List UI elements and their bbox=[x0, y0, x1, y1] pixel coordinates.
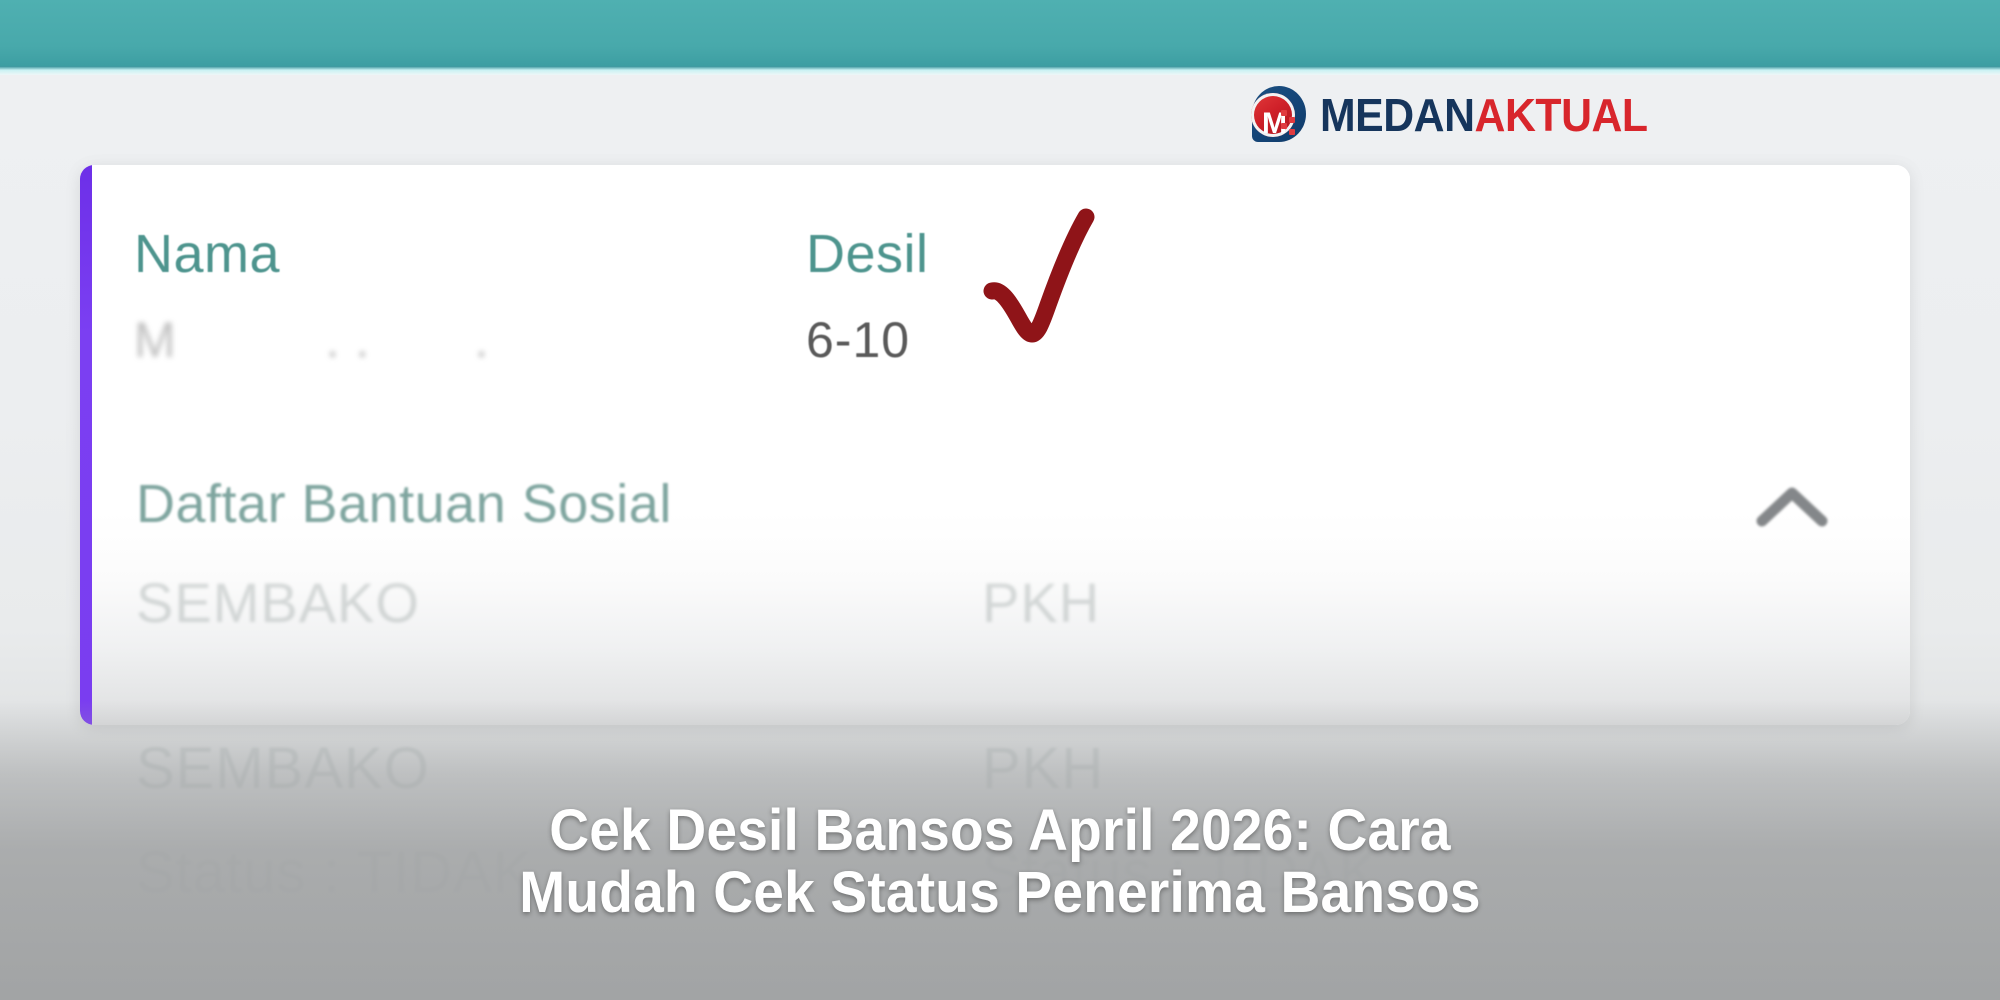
brand-wordmark: MEDANAKTUAL bbox=[1320, 92, 1648, 138]
article-cover-image: M MEDANAKTUAL Nama M . . . Desil bbox=[0, 0, 2000, 1000]
daftar-bantuan-sosial-section-header[interactable]: Daftar Bantuan Sosial bbox=[92, 455, 1910, 575]
logo-pixel-3 bbox=[1281, 123, 1287, 129]
aid-item-0: SEMBAKO bbox=[136, 575, 896, 631]
aid-list-faded-bottom: SEMBAKO Status : TIDAK PKH Status : TIDA… bbox=[92, 740, 1910, 1000]
brand-logo[interactable]: M MEDANAKTUAL bbox=[1248, 84, 1672, 146]
card-purple-accent-bar bbox=[80, 165, 92, 725]
chevron-up-icon[interactable] bbox=[1754, 479, 1830, 535]
aid-row-sembako-status: Status : TIDAK bbox=[136, 844, 936, 902]
brand-word-aktual: AKTUAL bbox=[1475, 89, 1648, 141]
bansos-app-screenshot-card: Nama M . . . Desil 6-10 Daftar Bantuan S… bbox=[80, 165, 1910, 725]
logo-pixel-2 bbox=[1289, 117, 1295, 123]
aid-row-pkh-status: Status : TIDAK bbox=[982, 844, 1782, 902]
field-nama-value-redacted: M . . . bbox=[134, 315, 489, 365]
logo-red-disc: M bbox=[1251, 93, 1295, 137]
aid-item-0-name: SEMBAKO bbox=[136, 575, 896, 631]
aid-row-pkh-name: PKH bbox=[982, 740, 1782, 798]
aid-item-1-name: PKH bbox=[982, 575, 1742, 631]
medanaktual-logo-icon: M bbox=[1248, 84, 1310, 146]
logo-pixel-1 bbox=[1281, 110, 1287, 116]
top-teal-bar bbox=[0, 0, 2000, 66]
aid-list-faded-top: SEMBAKO PKH bbox=[92, 575, 1910, 725]
field-desil-value: 6-10 bbox=[806, 315, 929, 365]
recipient-info-row: Nama M . . . Desil 6-10 bbox=[92, 165, 1910, 455]
field-desil-label: Desil bbox=[806, 227, 929, 281]
brand-word-medan: MEDAN bbox=[1320, 89, 1475, 141]
card-content: Nama M . . . Desil 6-10 Daftar Bantuan S… bbox=[92, 165, 1910, 725]
field-nama-label: Nama bbox=[134, 227, 489, 281]
aid-item-1: PKH bbox=[982, 575, 1742, 631]
red-check-mark-icon bbox=[982, 207, 1102, 347]
field-nama: Nama M . . . bbox=[134, 227, 489, 365]
logo-pixel-4 bbox=[1289, 129, 1295, 135]
section-title: Daftar Bantuan Sosial bbox=[136, 477, 672, 531]
aid-row-sembako: SEMBAKO Status : TIDAK bbox=[136, 740, 936, 902]
top-bar-glow-divider bbox=[0, 66, 2000, 75]
aid-row-pkh: PKH Status : TIDAK bbox=[982, 740, 1782, 902]
field-desil: Desil 6-10 bbox=[806, 227, 929, 365]
aid-row-sembako-name: SEMBAKO bbox=[136, 740, 936, 798]
